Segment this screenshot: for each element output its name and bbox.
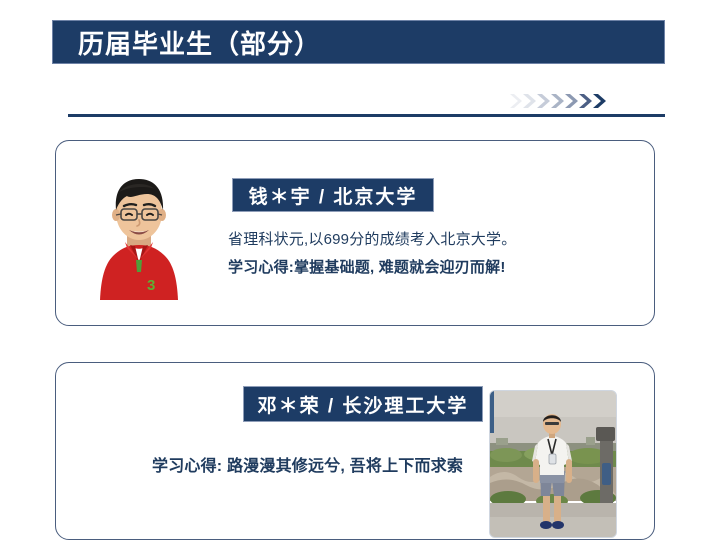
header-banner: 历届毕业生（部分） bbox=[52, 20, 665, 64]
name-school-label-2: 邓＊荣 / 长沙理工大学 bbox=[243, 386, 483, 422]
chevron-arrows-icon bbox=[508, 90, 613, 112]
page-title: 历届毕业生（部分） bbox=[78, 24, 321, 61]
divider-rule bbox=[68, 114, 665, 117]
card-2-line-1: 学习心得: 路漫漫其修远兮, 吾将上下而求索 bbox=[152, 452, 463, 476]
svg-text:3: 3 bbox=[147, 277, 155, 294]
student-outdoor-photo-2 bbox=[489, 390, 617, 538]
student-portrait-photo-1: 3 bbox=[83, 168, 195, 300]
card-1-line-2: 学习心得:掌握基础题, 难题就会迎刃而解! bbox=[228, 256, 506, 277]
card-1-line-1: 省理科状元,以699分的成绩考入北京大学。 bbox=[228, 228, 516, 249]
name-school-label-1: 钱＊宇 / 北京大学 bbox=[232, 178, 434, 212]
